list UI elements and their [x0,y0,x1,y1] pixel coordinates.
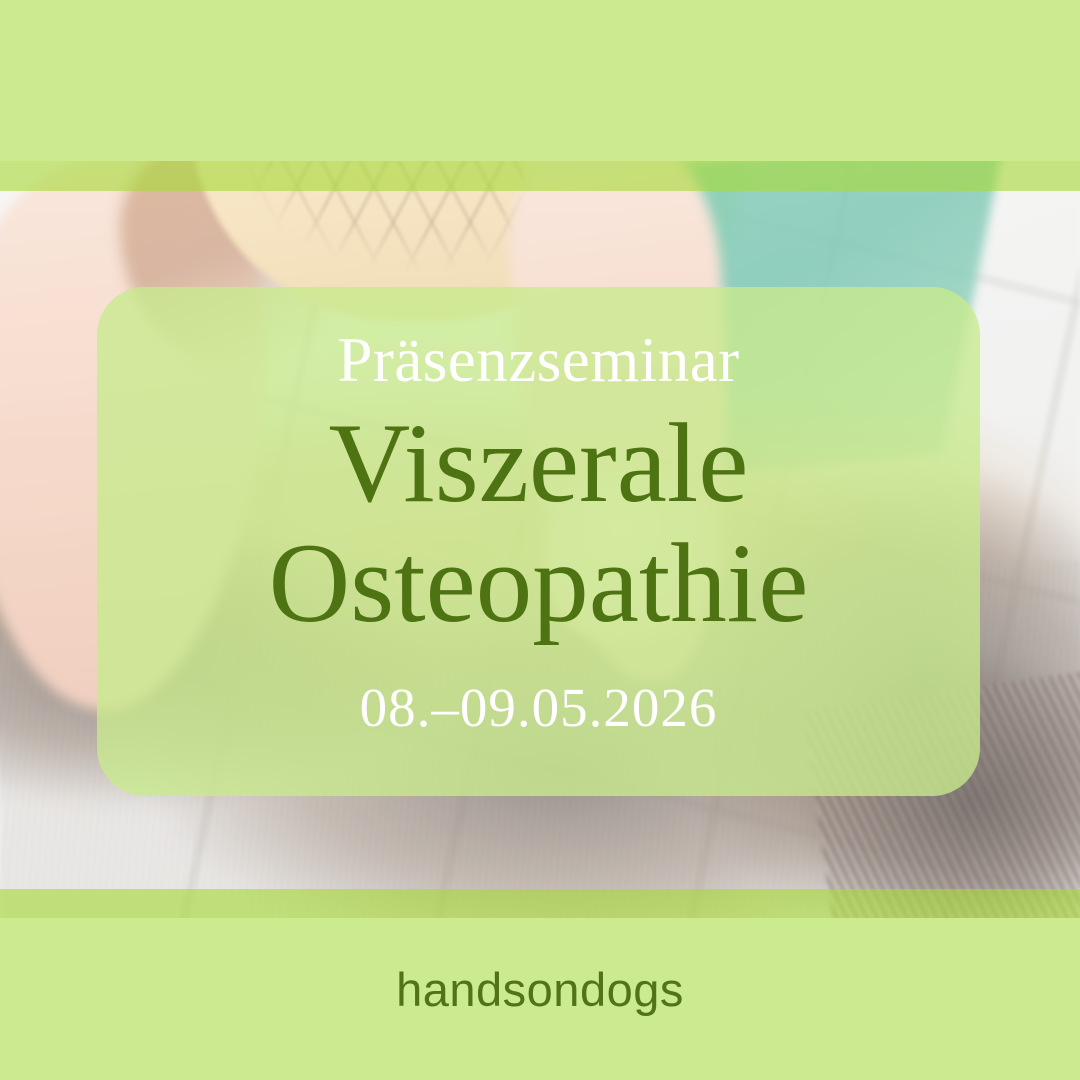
seminar-kicker: Präsenzseminar [337,329,739,392]
top-solid-band [0,0,1080,161]
seminar-card: Präsenzseminar Viszerale Osteopathie 08.… [97,287,980,796]
headline-line-1: Viszerale [269,404,809,524]
headline-line-2: Osteopathie [269,524,809,644]
poster-canvas: Präsenzseminar Viszerale Osteopathie 08.… [0,0,1080,1080]
seminar-headline: Viszerale Osteopathie [269,404,809,644]
brand-logo-text: handsondogs [0,962,1080,1017]
bottom-translucent-band [0,889,1080,918]
top-translucent-band [0,161,1080,191]
seminar-date: 08.–09.05.2026 [360,680,718,735]
